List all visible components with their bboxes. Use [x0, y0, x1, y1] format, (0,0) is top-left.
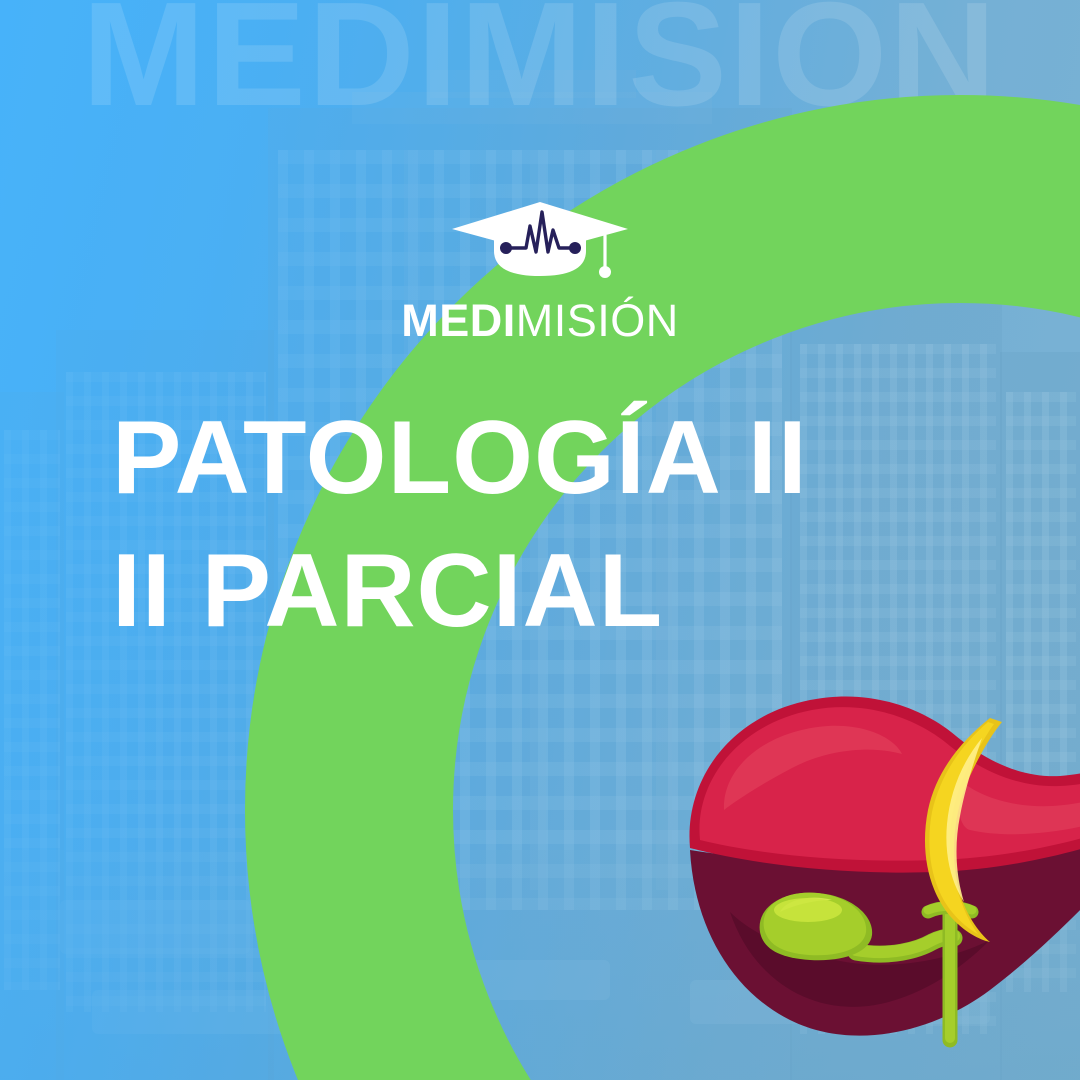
liver-gallbladder-illustration — [660, 660, 1080, 1080]
brand-wordmark: MEDIMISIÓN — [401, 298, 679, 343]
brand-logo: MEDIMISIÓN — [0, 196, 1080, 343]
page-title: PATOLOGÍA II II PARCIAL — [112, 392, 808, 658]
title-line-1: PATOLOGÍA II — [112, 392, 808, 525]
poster-canvas: MEDIMISION MEDIMISIÓN PATOLOGÍA I — [0, 0, 1080, 1080]
title-line-2: II PARCIAL — [112, 525, 808, 658]
graduation-cap-ecg-icon — [450, 196, 630, 288]
brand-word-light: MISIÓN — [516, 295, 679, 346]
brand-word-bold: MEDI — [401, 295, 516, 346]
